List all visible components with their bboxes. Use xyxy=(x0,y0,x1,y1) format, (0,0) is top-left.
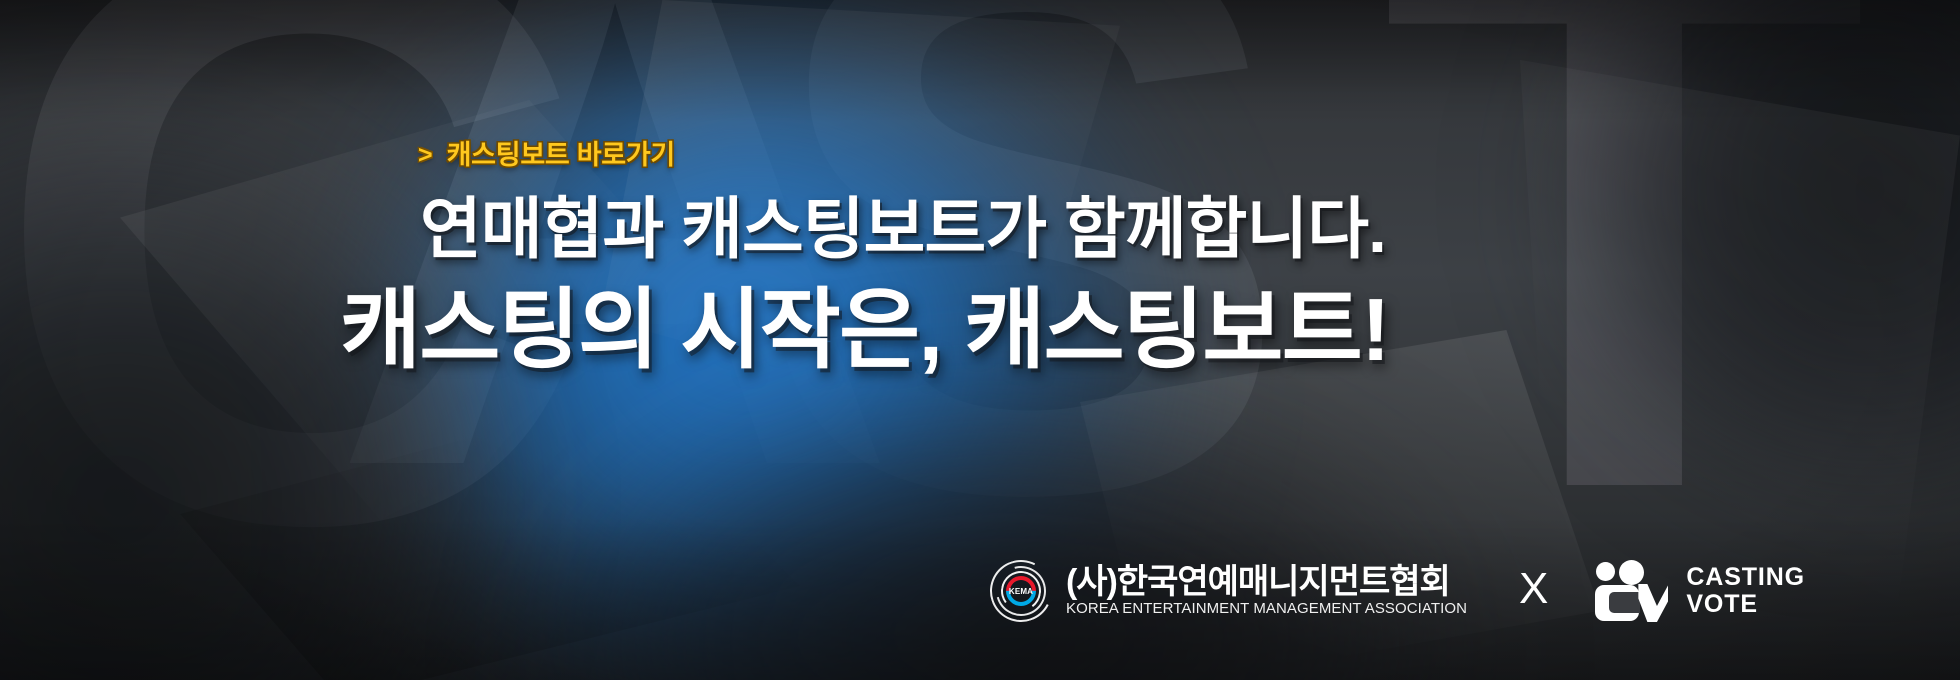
cv-head-large xyxy=(1619,560,1644,585)
partnership-x-separator: X xyxy=(1519,567,1548,615)
casting-vote-name-line-1: CASTING xyxy=(1686,564,1805,592)
casting-vote-logo[interactable]: CASTING VOTE xyxy=(1594,560,1805,622)
casting-vote-name-line-2: VOTE xyxy=(1686,591,1805,619)
kema-mark-label: KEMA xyxy=(990,560,1052,622)
kema-wordmark: (사)한국연예매니지먼트협회 KOREA ENTERTAINMENT MANAG… xyxy=(1066,565,1467,617)
headline-line-2: 캐스팅의 시작은, 캐스팅보트! xyxy=(340,282,1389,379)
cv-letter-v-check xyxy=(1638,584,1668,622)
partner-logo-bar: KEMA (사)한국연예매니지먼트협회 KOREA ENTERTAINMENT … xyxy=(990,548,1805,634)
kema-name-english: KOREA ENTERTAINMENT MANAGEMENT ASSOCIATI… xyxy=(1066,601,1467,617)
casting-vote-wordmark: CASTING VOTE xyxy=(1686,564,1805,619)
kema-name-korean: (사)한국연예매니지먼트협회 xyxy=(1066,565,1467,600)
cv-letter-c-notch xyxy=(1609,592,1640,613)
kema-logo[interactable]: KEMA (사)한국연예매니지먼트협회 KOREA ENTERTAINMENT … xyxy=(990,560,1467,622)
promo-banner: C A S T > 캐스팅보트 바로가기 연매협과 캐스팅보트가 함께합니다. … xyxy=(0,0,1960,680)
casting-vote-emblem-icon xyxy=(1594,560,1668,622)
casting-vote-link[interactable]: > 캐스팅보트 바로가기 xyxy=(418,142,675,169)
banner-content: > 캐스팅보트 바로가기 연매협과 캐스팅보트가 함께합니다. 캐스팅의 시작은… xyxy=(0,0,1960,680)
casting-vote-link-label: 캐스팅보트 바로가기 xyxy=(447,142,675,169)
cv-head-small xyxy=(1596,562,1615,581)
kema-emblem-icon: KEMA xyxy=(990,560,1052,622)
headline-line-1: 연매협과 캐스팅보트가 함께합니다. xyxy=(420,192,1386,267)
chevron-right-icon: > xyxy=(418,143,433,168)
